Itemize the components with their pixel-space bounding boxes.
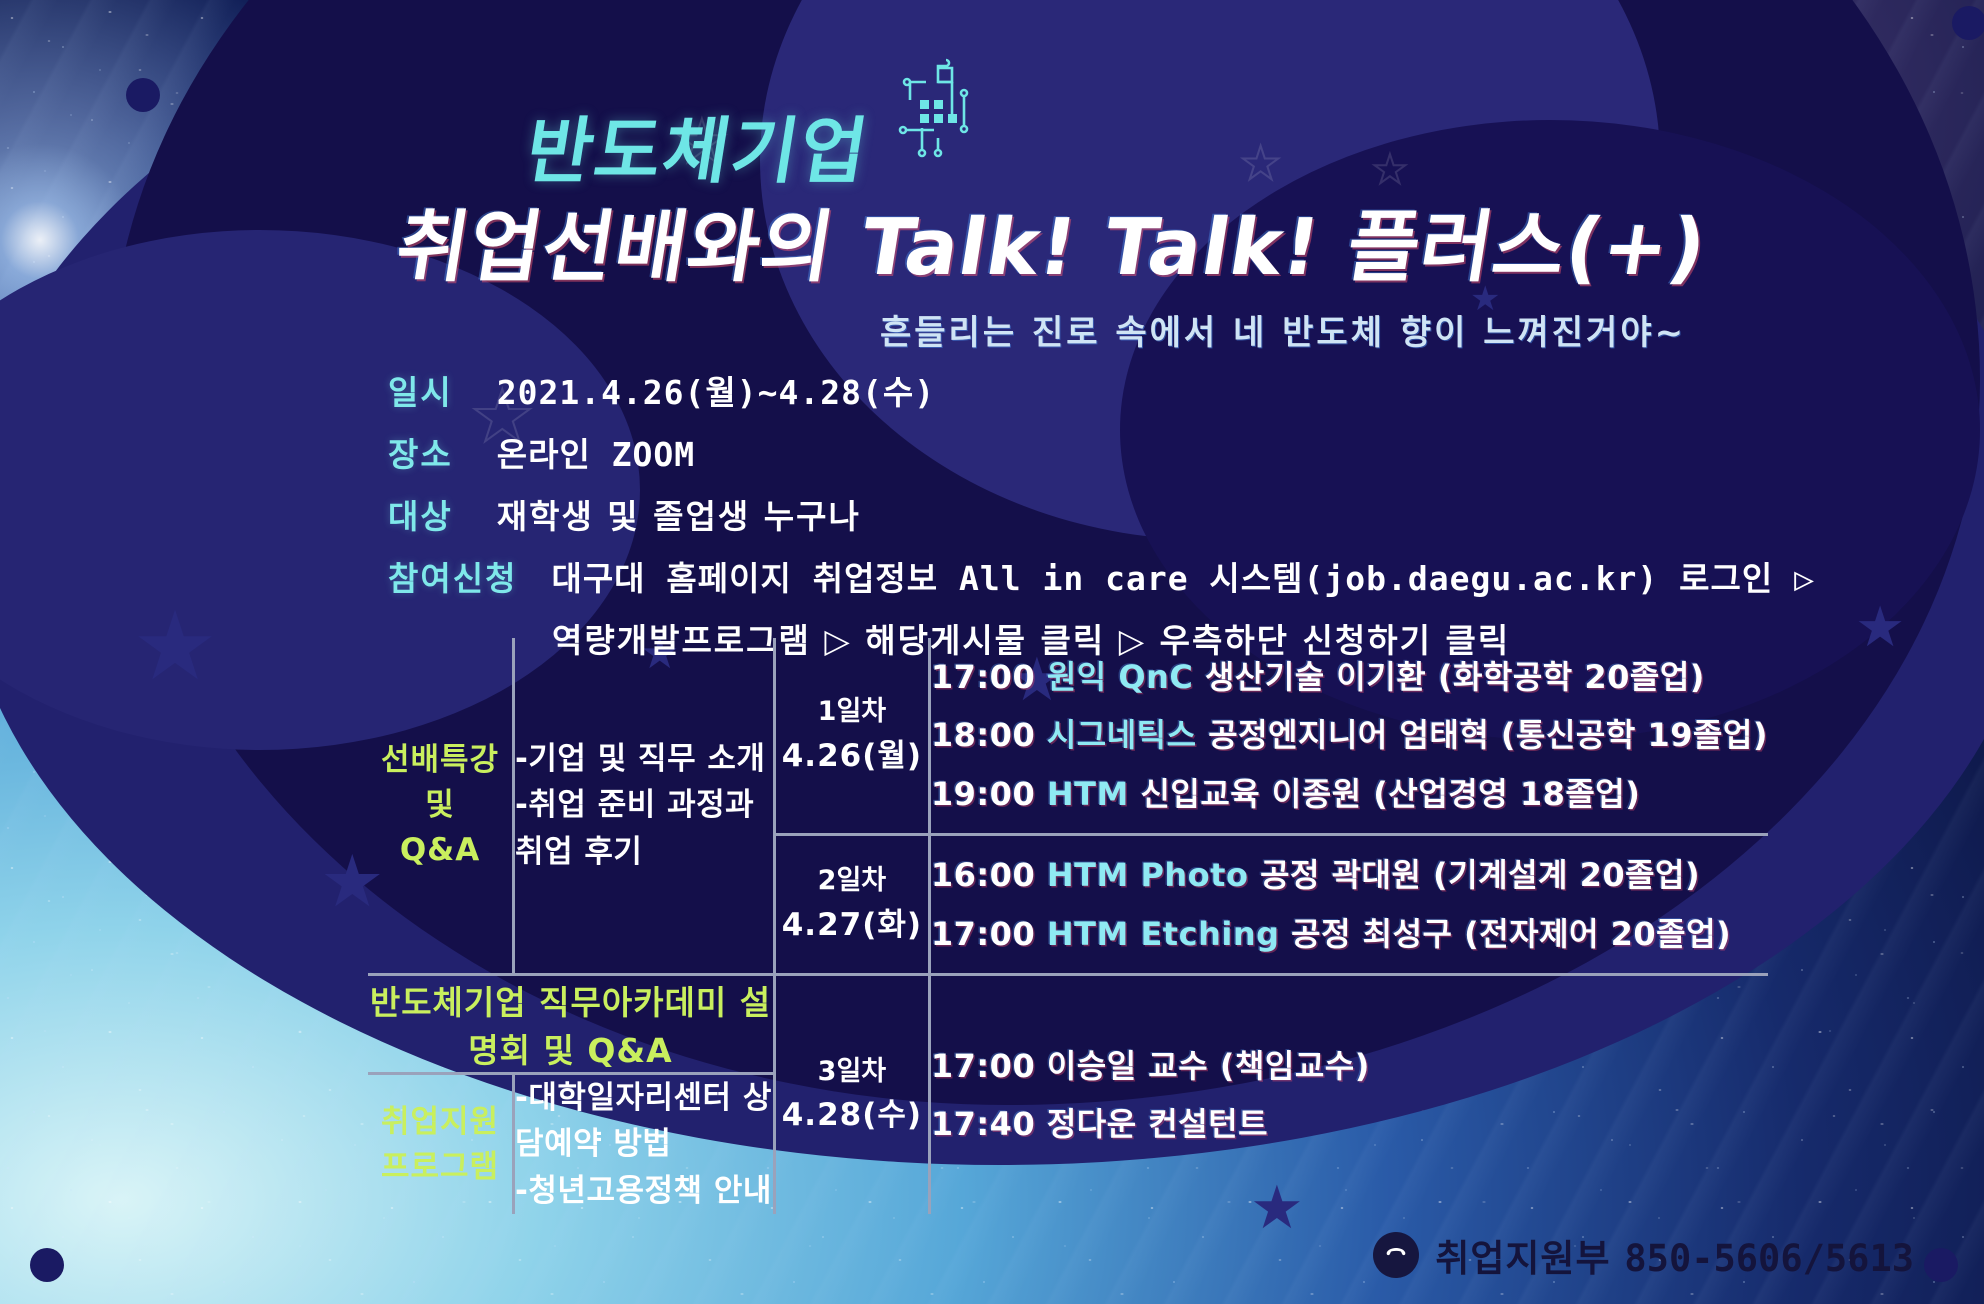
info-label: 일시 <box>388 366 453 414</box>
contact-text: 취업지원부 850-5606/5613 <box>1435 1228 1914 1282</box>
session-org: HTM Etching <box>1047 915 1280 953</box>
info-label: 대상 <box>388 490 453 538</box>
session-time: 17:00 <box>931 915 1035 953</box>
session-time: 17:00 <box>931 1047 1035 1085</box>
day-date: 4.26(월) <box>776 733 928 780</box>
contact-department: 취업지원부 <box>1435 1237 1610 1280</box>
table-row: 선배특강및Q&A -기업 및 직무 소개-취업 준비 과정과 취업 후기 1일차… <box>368 638 1768 835</box>
session-time: 16:00 <box>931 856 1035 894</box>
session-line: 16:00 HTM Photo 공정 곽대원 (기계설계 20졸업) <box>931 856 1768 894</box>
session-detail: 정다운 컨설턴트 <box>1047 1105 1268 1143</box>
session-time: 19:00 <box>931 775 1035 813</box>
info-value: 2021.4.26(월)~4.28(수) <box>497 366 935 414</box>
session-org: 시그네틱스 <box>1047 716 1197 754</box>
description-cell-2: -대학일자리센터 상담예약 방법-청년고용정책 안내 <box>514 1073 775 1214</box>
session-time: 18:00 <box>931 716 1035 754</box>
sessions-cell-day3: 17:00 이승일 교수 (책임교수) 17:40 정다운 컨설턴트 <box>929 974 1768 1214</box>
event-poster: ★ ★ ★ ★ ★ ★ ★ ★ ★ ★ ★ 반도체기업 <box>0 0 1984 1304</box>
academy-info-label: 반도체기업 직무아카데미 설명회 및 Q&A <box>368 974 774 1073</box>
session-time: 17:00 <box>931 658 1035 696</box>
sessions-cell-day1: 17:00 원익 QnC 생산기술 이기환 (화학공학 20졸업) 18:00 … <box>929 638 1768 835</box>
session-line: 18:00 시그네틱스 공정엔지니어 엄태혁 (통신공학 19졸업) <box>931 716 1768 754</box>
title-line-1: 반도체기업 <box>520 92 878 197</box>
info-row: 일시 2021.4.26(월)~4.28(수) <box>388 366 1815 414</box>
info-label: 장소 <box>388 428 453 476</box>
session-detail: 이승일 교수 (책임교수) <box>1047 1047 1370 1085</box>
session-org: 원익 QnC <box>1047 658 1194 696</box>
info-label: 참여신청 <box>388 552 517 600</box>
sessions-cell-day2: 16:00 HTM Photo 공정 곽대원 (기계설계 20졸업) 17:00… <box>929 835 1768 975</box>
session-detail: 공정엔지니어 엄태혁 (통신공학 19졸업) <box>1208 716 1768 754</box>
contact-phone: 850-5606/5613 <box>1624 1237 1914 1280</box>
day-cell-2: 2일차 4.27(화) <box>774 835 929 975</box>
day-number: 2일차 <box>776 861 928 902</box>
category-cell-1: 선배특강및Q&A <box>368 638 514 974</box>
session-detail: 생산기술 이기환 (화학공학 20졸업) <box>1205 658 1705 696</box>
session-line: 17:00 원익 QnC 생산기술 이기환 (화학공학 20졸업) <box>931 658 1768 696</box>
session-line: 17:00 이승일 교수 (책임교수) <box>931 1047 1768 1085</box>
info-block: 일시 2021.4.26(월)~4.28(수) 장소 온라인 ZOOM 대상 재… <box>388 366 1815 662</box>
session-line: 17:00 HTM Etching 공정 최성구 (전자제어 20졸업) <box>931 915 1768 953</box>
session-detail: 신입교육 이종원 (산업경영 18졸업) <box>1140 775 1640 813</box>
description-text: -기업 및 직무 소개-취업 준비 과정과 취업 후기 <box>515 741 765 870</box>
table-row: 반도체기업 직무아카데미 설명회 및 Q&A 3일차 4.28(수) 17:00… <box>368 974 1768 1073</box>
day-cell-3: 3일차 4.28(수) <box>774 974 929 1214</box>
category-label: 선배특강및Q&A <box>381 742 499 868</box>
session-detail: 공정 최성구 (전자제어 20졸업) <box>1291 915 1731 953</box>
description-text: -대학일자리센터 상담예약 방법-청년고용정책 안내 <box>515 1080 772 1209</box>
poster-subtitle: 흔들리는 진로 속에서 네 반도체 향이 느껴진거야~ <box>880 305 1686 354</box>
session-detail: 공정 곽대원 (기계설계 20졸업) <box>1260 856 1700 894</box>
info-value: 온라인 ZOOM <box>497 428 695 476</box>
day-cell-1: 1일차 4.26(월) <box>774 638 929 835</box>
info-row: 대상 재학생 및 졸업생 누구나 <box>388 490 1815 538</box>
category-label: 취업지원프로그램 <box>381 1104 499 1185</box>
phone-icon <box>1373 1232 1419 1278</box>
schedule-table: 선배특강및Q&A -기업 및 직무 소개-취업 준비 과정과 취업 후기 1일차… <box>368 638 1768 1214</box>
day-date: 4.28(수) <box>776 1092 928 1139</box>
session-org: HTM Photo <box>1047 856 1249 894</box>
day-number: 3일차 <box>776 1052 928 1093</box>
category-cell-2: 취업지원프로그램 <box>368 1073 514 1214</box>
description-cell-1: -기업 및 직무 소개-취업 준비 과정과 취업 후기 <box>514 638 775 974</box>
info-row: 장소 온라인 ZOOM <box>388 428 1815 476</box>
session-line: 17:40 정다운 컨설턴트 <box>931 1105 1768 1143</box>
info-value: 재학생 및 졸업생 누구나 <box>497 490 861 538</box>
day-date: 4.27(화) <box>776 902 928 949</box>
session-time: 17:40 <box>931 1105 1035 1143</box>
info-value[interactable]: 대구대 홈페이지 취업정보 All in care 시스템(job.daegu.… <box>551 552 1815 600</box>
session-line: 19:00 HTM 신입교육 이종원 (산업경영 18졸업) <box>931 775 1768 813</box>
info-row-apply: 참여신청 대구대 홈페이지 취업정보 All in care 시스템(job.d… <box>388 552 1815 600</box>
day-number: 1일차 <box>776 692 928 733</box>
microchip-icon <box>880 58 990 168</box>
session-org: HTM <box>1047 775 1129 813</box>
title-line-2: 취업선배와의 Talk! Talk! 플러스(+) <box>389 185 1716 297</box>
contact-block: 취업지원부 850-5606/5613 <box>1373 1228 1914 1282</box>
